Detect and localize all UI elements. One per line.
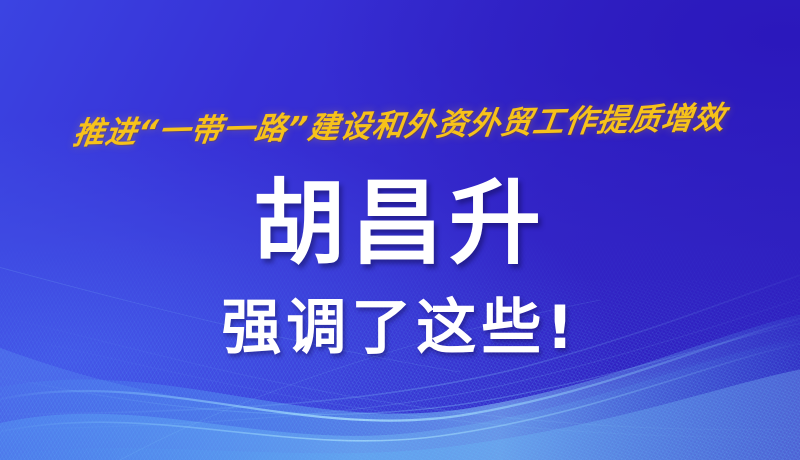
subtitle-text: 强调了这些! — [221, 298, 578, 358]
headline-row: 推进“一带一路”建设和外资外贸工作提质增效 — [0, 100, 800, 145]
subtitle-row: 强调了这些! — [0, 298, 800, 358]
promo-banner: 推进“一带一路”建设和外资外贸工作提质增效 胡昌升 强调了这些! — [0, 0, 800, 460]
name-row: 胡昌升 — [0, 178, 800, 270]
person-name-title: 胡昌升 — [253, 178, 547, 270]
headline-text: 推进“一带一路”建设和外资外贸工作提质增效 — [71, 92, 729, 153]
